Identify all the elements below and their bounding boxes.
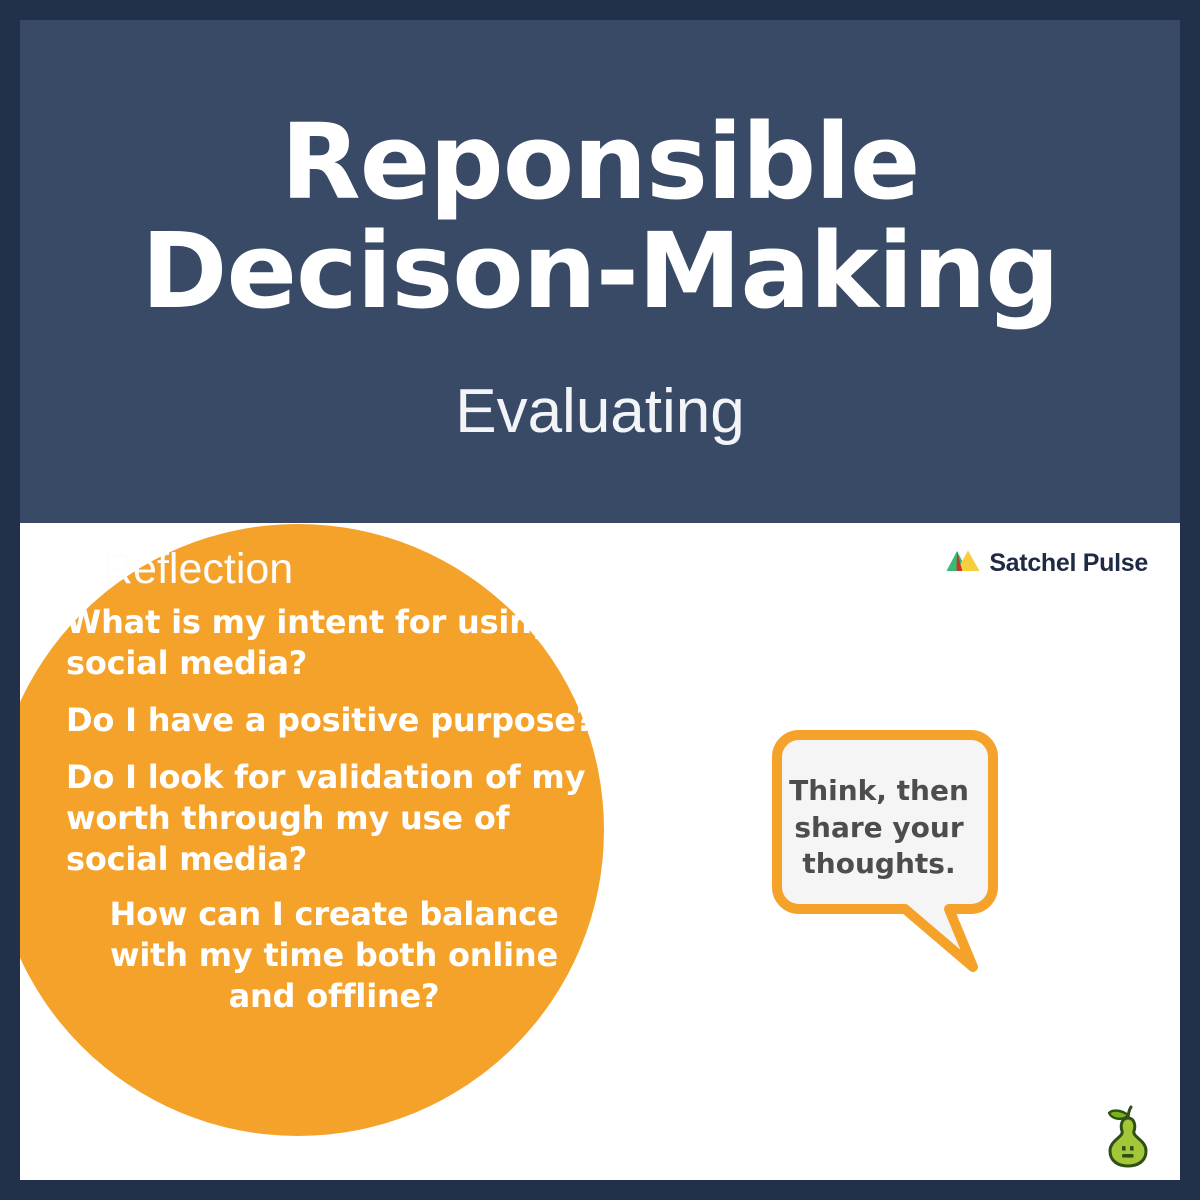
speech-bubble: Think, then share your thoughts.	[755, 725, 1015, 985]
reflection-question-3: Do I look for validation of my worth thr…	[66, 757, 598, 880]
speech-bubble-text: Think, then share your thoughts.	[777, 773, 981, 883]
slide-canvas: Reponsible Decison-Making Evaluating Ref…	[0, 0, 1200, 1200]
brand-logo: Satchel Pulse	[946, 549, 1148, 578]
reflection-content: Reflection What is my intent for using s…	[48, 523, 604, 1135]
slide-header: Reponsible Decison-Making Evaluating	[20, 20, 1180, 523]
page-title: Reponsible Decison-Making	[70, 108, 1130, 326]
two-triangles-icon	[946, 550, 980, 577]
reflection-question-4: How can I create balance with my time bo…	[66, 894, 598, 1017]
reflection-question-2: Do I have a positive purpose?	[66, 700, 598, 741]
slide-body-panel: Reflection What is my intent for using s…	[20, 523, 1180, 1180]
page-subtitle: Evaluating	[455, 326, 745, 446]
reflection-question-1: What is my intent for using social media…	[66, 602, 598, 684]
reflection-heading: Reflection	[102, 547, 598, 592]
pear-character-icon	[1101, 1104, 1155, 1168]
brand-name-label: Satchel Pulse	[989, 549, 1148, 578]
